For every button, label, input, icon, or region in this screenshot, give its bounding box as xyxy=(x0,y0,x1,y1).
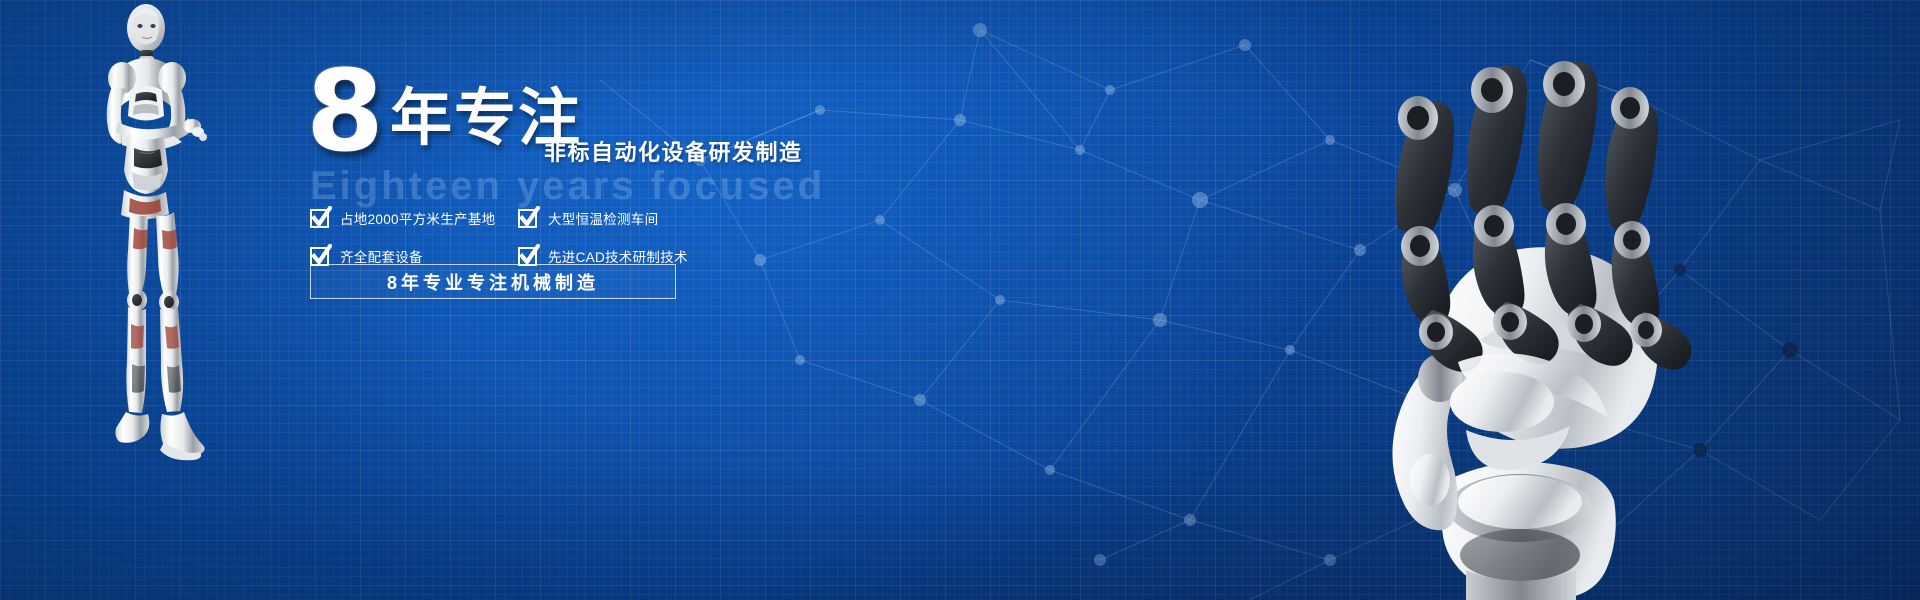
hero-banner: 8 年专注 非标自动化设备研发制造 Eighteen years focused… xyxy=(0,0,1920,600)
robotic-hand-figure xyxy=(1280,10,1920,600)
feature-label: 大型恒温检测车间 xyxy=(548,208,658,228)
feature-item-1: 占地2000平方米生产基地 xyxy=(310,208,518,228)
ghost-tagline: Eighteen years focused xyxy=(310,164,825,209)
headline: 8 年专注 非标自动化设备研发制造 Eighteen years focused xyxy=(306,72,1006,156)
check-icon xyxy=(518,247,537,266)
feature-label: 占地2000平方米生产基地 xyxy=(340,208,495,228)
check-icon xyxy=(518,209,537,228)
slogan-box: 8年专业专注机械制造 xyxy=(310,264,676,299)
check-icon xyxy=(310,247,329,266)
check-icon xyxy=(310,209,329,228)
headline-number: 8 xyxy=(306,56,382,168)
slogan-text: 8年专业专注机械制造 xyxy=(387,269,599,295)
feature-checklist: 占地2000平方米生产基地 大型恒温检测车间 齐全配套设备 先进CAD技术研制技… xyxy=(310,208,710,266)
humanoid-robot-figure xyxy=(70,2,260,482)
feature-item-3: 齐全配套设备 xyxy=(310,246,518,266)
feature-label: 先进CAD技术研制技术 xyxy=(548,246,688,266)
feature-item-4: 先进CAD技术研制技术 xyxy=(518,246,726,266)
banner-text-block: 8 年专注 非标自动化设备研发制造 Eighteen years focused… xyxy=(306,72,1006,156)
feature-item-2: 大型恒温检测车间 xyxy=(518,208,726,228)
feature-label: 齐全配套设备 xyxy=(340,246,423,266)
banner-subtitle: 非标自动化设备研发制造 xyxy=(544,135,803,167)
